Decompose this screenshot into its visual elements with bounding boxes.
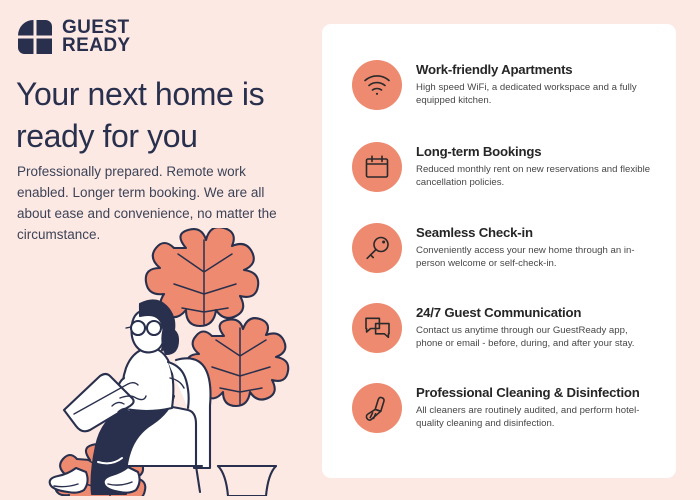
calendar-icon [352, 142, 402, 192]
feature-item[interactable]: Seamless Check-in Conveniently access yo… [352, 223, 656, 273]
feature-text: Professional Cleaning & Disinfection All… [416, 383, 656, 433]
feature-item[interactable]: Long-term Bookings Reduced monthly rent … [352, 142, 656, 192]
chat-bubbles-icon [352, 303, 402, 353]
feature-title: 24/7 Guest Communication [416, 305, 656, 321]
marketing-page: GUEST READY Your next home is ready for … [0, 0, 700, 500]
key-icon [352, 223, 402, 273]
feature-text: Long-term Bookings Reduced monthly rent … [416, 142, 656, 192]
feature-title: Professional Cleaning & Disinfection [416, 385, 656, 401]
feature-text: Work-friendly Apartments High speed WiFi… [416, 60, 656, 110]
feature-item[interactable]: Work-friendly Apartments High speed WiFi… [352, 60, 656, 110]
feature-item[interactable]: Professional Cleaning & Disinfection All… [352, 383, 656, 433]
feature-description: Conveniently access your new home throug… [416, 244, 656, 271]
features-card: Work-friendly Apartments High speed WiFi… [322, 24, 676, 478]
logo-text-line2: READY [62, 37, 131, 55]
feature-text: Seamless Check-in Conveniently access yo… [416, 223, 656, 273]
feature-title: Seamless Check-in [416, 225, 656, 241]
guestready-quadrant-logo-icon [17, 19, 53, 55]
brand-logo[interactable]: GUEST READY [17, 19, 131, 55]
feature-description: All cleaners are routinely audited, and … [416, 404, 656, 431]
page-title: Your next home is ready for you [16, 74, 316, 157]
woman-on-armchair-with-laptop-and-plants-illustration [28, 228, 308, 496]
feature-item[interactable]: 24/7 Guest Communication Contact us anyt… [352, 303, 656, 353]
feature-title: Long-term Bookings [416, 144, 656, 160]
feature-text: 24/7 Guest Communication Contact us anyt… [416, 303, 656, 353]
feature-description: Contact us anytime through our GuestRead… [416, 324, 656, 351]
hero-column: GUEST READY Your next home is ready for … [0, 0, 322, 500]
feature-description: Reduced monthly rent on new reservations… [416, 163, 656, 190]
wifi-icon [352, 60, 402, 110]
feature-description: High speed WiFi, a dedicated workspace a… [416, 81, 656, 108]
feature-title: Work-friendly Apartments [416, 62, 656, 78]
broom-icon [352, 383, 402, 433]
